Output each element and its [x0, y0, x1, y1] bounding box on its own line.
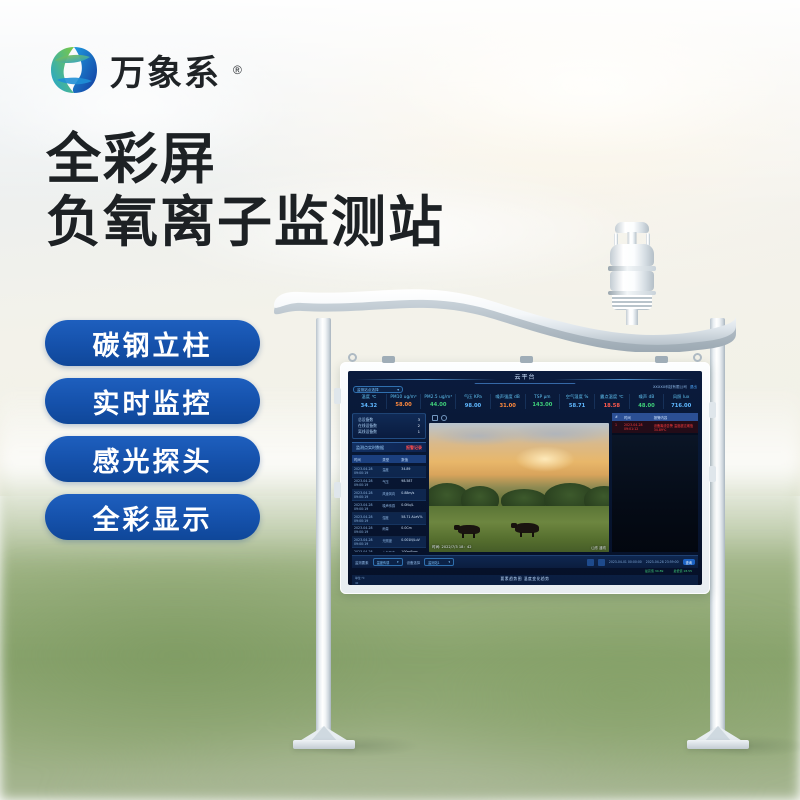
data-table-columns: 时间 类型 数值 [352, 455, 426, 463]
element-select[interactable]: 温度传感 ▾ [373, 558, 403, 566]
trend-toolbar: 监测要素 温度传感 ▾ 设备选择 监测站1 ▾ 2023-04-01 00:00… [352, 555, 698, 568]
query-button[interactable]: 查询 [683, 559, 695, 565]
chart-view-icon[interactable] [598, 559, 605, 566]
element-select-label: 监测要素 [355, 560, 369, 565]
alarm-preview-dark [612, 435, 698, 552]
metric-value: 98.00 [456, 403, 490, 409]
chart-y-axis: 4035302520151050 [355, 583, 358, 585]
metric-card: 空气湿度 % 58.71 [560, 394, 595, 409]
metric-label: 露点温度 ℃ [595, 394, 629, 400]
chevron-down-icon: ▾ [397, 560, 399, 564]
alarm-content: 设备离线告警 温度超过阈值 34.89℃ [654, 423, 695, 432]
sensor-neck [628, 232, 637, 244]
metric-card: 气压 KPa 98.00 [456, 394, 491, 409]
cell-type: 风速风向 [382, 491, 401, 499]
lift-eyelet-right [693, 353, 702, 362]
cell-value: 34.89 [401, 467, 424, 475]
trend-section: 监测要素 温度传感 ▾ 设备选择 监测站1 ▾ 2023-04-01 00:00… [348, 555, 702, 585]
chart-legend: 最高值 34.89 最低值 18.55 [352, 568, 698, 573]
base-flange-left [293, 740, 355, 749]
alarm-col-index: # [615, 415, 620, 420]
legend-max: 最高值 34.89 [645, 569, 664, 573]
metric-card: 温度 ℃ 34.32 [352, 394, 387, 409]
alarm-time: 2023-04-28 09:01:12 [624, 423, 650, 432]
metric-label: 空气湿度 % [560, 394, 594, 400]
camera-feed[interactable]: 时间: 2022/7/3 18：42 山东 潍坊 [429, 423, 609, 552]
user-company-label: XXXXX科技有限公司 [653, 385, 687, 390]
sensor-mount-stem [626, 309, 638, 325]
metric-card: 风照 lux 716.00 [664, 394, 698, 409]
device-select-label: 设备选择 [407, 560, 421, 565]
cell-value: 0.0Nu/L [401, 503, 424, 511]
cell-time: 2023-04-28 09:00:19 [354, 538, 382, 546]
table-row[interactable]: 2023-04-28 09:00:19风速风向0.88m/s [352, 490, 426, 502]
device-select[interactable]: 监测站1 ▾ [424, 558, 454, 566]
metric-label: PM10 ug/m³ [387, 394, 421, 399]
legend-min: 最低值 18.55 [673, 569, 692, 573]
cell-value: 58.71 ALeV% [401, 515, 424, 523]
metric-card: 噪声强度 dB 31.00 [491, 394, 526, 409]
data-table-body[interactable]: 2023-04-28 09:00:19温度34.892023-04-28 09:… [352, 466, 426, 552]
metric-value: 48.00 [630, 403, 664, 409]
cell-time: 2023-04-28 09:00:19 [354, 479, 382, 487]
metric-value: 58.00 [387, 402, 421, 408]
base-flange-right [687, 740, 749, 749]
top-bracket-3 [655, 356, 668, 363]
trend-chart[interactable]: 单位:℃ 要素趋势图 温度变化趋势 4035302520151050 18.62… [352, 575, 698, 585]
wave-canopy [270, 276, 740, 352]
metric-value: 18.58 [595, 403, 629, 409]
metric-value: 31.00 [491, 403, 525, 409]
metric-card: 露点温度 ℃ 18.58 [595, 394, 630, 409]
metric-label: TSP μm [526, 394, 560, 399]
table-view-icon[interactable] [587, 559, 594, 566]
alarm-panel: # 时间 报警内容 1 2023-04-28 09:01:12 设备离线告警 温… [612, 413, 698, 552]
metric-label: 温度 ℃ [352, 394, 386, 400]
base-plate-left [293, 727, 355, 749]
cell-value: 0.88m/s [401, 491, 424, 499]
column-header-time: 时间 [354, 457, 382, 462]
status-label: 离线设备数 [358, 429, 377, 435]
metric-card: PM2.5 ug/m³ 44.00 [421, 394, 456, 409]
chart-plot: 18.620.124.527.419.218.819.419.118.921.2… [368, 583, 702, 585]
date-range-start[interactable]: 2023-04-01 00:00:00 [609, 560, 642, 564]
chevron-down-icon: ▾ [397, 387, 399, 393]
alarm-columns: # 时间 报警内容 [612, 413, 698, 421]
cell-value: 0.001N/LuV [401, 538, 424, 546]
data-table-header: 监测点实时数据 报警记录 [352, 442, 426, 452]
side-bracket-left-2 [334, 482, 341, 498]
metric-label: 风照 lux [664, 394, 698, 400]
feed-sun-glow [515, 446, 575, 472]
cell-type: 噪声传感 [382, 503, 401, 511]
station-select[interactable]: 监测站点选择 ▾ [353, 386, 403, 393]
cow-leg [532, 532, 534, 537]
support-post-left [316, 318, 331, 736]
side-bracket-right-2 [709, 466, 716, 482]
column-header-value: 数值 [401, 457, 424, 462]
cell-time: 2023-04-28 09:00:19 [354, 526, 382, 534]
chart-title: 要素趋势图 温度变化趋势 [501, 576, 550, 582]
cell-type: 大气压力 [382, 550, 401, 552]
monitoring-station: 云平台 监测站点选择 ▾ XXXXX科技有限公司 退出 温度 ℃ 34.32 P… [0, 0, 800, 800]
alarm-row[interactable]: 1 2023-04-28 09:01:12 设备离线告警 温度超过阈值 34.8… [612, 421, 698, 433]
snapshot-icon[interactable] [441, 415, 447, 421]
table-row[interactable]: 2023-04-28 09:00:19光照度0.001N/LuV [352, 537, 426, 549]
metric-card: TSP μm 143.00 [526, 394, 561, 409]
feed-cloud-2 [501, 423, 609, 445]
table-row[interactable]: 2023-04-28 09:00:19气压98.587 [352, 478, 426, 490]
cell-type: 光照度 [382, 538, 401, 546]
top-bracket-1 [382, 356, 395, 363]
side-bracket-left-1 [334, 388, 341, 404]
metric-value: 716.00 [664, 403, 698, 409]
table-row[interactable]: 2023-04-28 09:00:19大气压力100mEnm [352, 548, 426, 552]
dashboard-header: 云平台 [348, 371, 702, 386]
station-select-value: 监测站点选择 [357, 387, 379, 393]
metric-value: 58.71 [560, 403, 594, 409]
cell-time: 2023-04-28 09:00:19 [354, 491, 382, 499]
device-select-value: 监测站1 [428, 560, 440, 565]
side-bracket-right-1 [709, 402, 716, 418]
column-header-type: 类型 [382, 457, 401, 462]
cell-time: 2023-04-28 09:00:19 [354, 515, 382, 523]
chevron-down-icon: ▾ [449, 560, 451, 564]
cell-time: 2023-04-28 09:00:19 [354, 467, 382, 475]
support-post-right [710, 318, 725, 736]
cell-type: 湿度 [382, 515, 401, 523]
metric-card: PM10 ug/m³ 58.00 [387, 394, 422, 409]
cell-type: 温度 [382, 467, 401, 475]
cell-value: 0.0Cm [401, 526, 424, 534]
cell-type: 雨量 [382, 526, 401, 534]
table-row[interactable]: 2023-04-28 09:00:19雨量0.0Cm [352, 525, 426, 537]
camera-panel: 时间: 2022/7/3 18：42 山东 潍坊 [429, 413, 609, 552]
metric-value: 44.00 [421, 402, 455, 408]
feed-cow-1 [458, 525, 480, 534]
feed-cow-2 [515, 523, 539, 533]
sensor-radiation-shield [612, 295, 652, 310]
alarm-col-content: 报警内容 [654, 415, 695, 420]
cell-value: 98.587 [401, 479, 424, 487]
base-plate-right [687, 727, 749, 749]
logout-button[interactable]: 退出 [690, 385, 697, 390]
fullscreen-icon[interactable] [432, 415, 438, 421]
lift-eyelet-left [348, 353, 357, 362]
metric-card: 噪声 dB 48.00 [630, 394, 665, 409]
date-range-end[interactable]: 2023-04-28 23:59:00 [646, 560, 679, 564]
status-row: 离线设备数 1 [358, 429, 420, 435]
top-bracket-2 [520, 356, 533, 363]
sensor-mid-body [610, 271, 654, 291]
ultrasonic-weather-sensor [600, 222, 664, 318]
camera-location: 山东 潍坊 [591, 545, 606, 550]
dashboard-body: 总设备数 3 在线设备数 2 离线设备数 1 监测点实时数据 [348, 409, 702, 552]
display-housing: 云平台 监测站点选择 ▾ XXXXX科技有限公司 退出 温度 ℃ 34.32 P… [340, 362, 710, 594]
data-table-title: 监测点实时数据 [356, 445, 384, 451]
camera-timestamp: 时间: 2022/7/3 18：42 [432, 545, 472, 550]
cell-time: 2023-04-28 09:00:19 [354, 550, 382, 552]
sensor-upper-body [610, 244, 654, 266]
cow-head [454, 525, 460, 530]
metric-label: PM2.5 ug/m³ [421, 394, 455, 399]
table-row[interactable]: 2023-04-28 09:00:19湿度58.71 ALeV% [352, 513, 426, 525]
cell-type: 气压 [382, 479, 401, 487]
camera-toolbar [429, 413, 609, 423]
metric-label: 气压 KPa [456, 394, 490, 400]
dashboard-title: 云平台 [514, 372, 535, 381]
cow-leg [462, 533, 464, 538]
alarm-list[interactable]: 1 2023-04-28 09:01:12 设备离线告警 温度超过阈值 34.8… [612, 421, 698, 552]
chart-unit-label: 单位:℃ [355, 576, 365, 580]
metric-strip: 温度 ℃ 34.32 PM10 ug/m³ 58.00 PM2.5 ug/m³ … [348, 394, 702, 409]
cow-leg [473, 533, 475, 538]
alarm-index: 1 [615, 423, 620, 432]
metric-label: 噪声 dB [630, 394, 664, 400]
cow-head [511, 523, 517, 528]
user-area: XXXXX科技有限公司 退出 [653, 385, 697, 390]
cow-leg [520, 532, 522, 537]
table-row[interactable]: 2023-04-28 09:00:19温度34.89 [352, 466, 426, 478]
status-value: 1 [418, 429, 420, 435]
left-panel: 总设备数 3 在线设备数 2 离线设备数 1 监测点实时数据 [352, 413, 426, 552]
alarm-col-time: 时间 [624, 415, 650, 420]
element-select-value: 温度传感 [377, 560, 390, 565]
y-tick-label: 40 [355, 583, 358, 585]
device-status-card: 总设备数 3 在线设备数 2 离线设备数 1 [352, 413, 426, 439]
alarm-records-link[interactable]: 报警记录 [406, 445, 422, 451]
metric-label: 噪声强度 dB [491, 394, 525, 400]
dashboard-screen[interactable]: 云平台 监测站点选择 ▾ XXXXX科技有限公司 退出 温度 ℃ 34.32 P… [348, 371, 702, 585]
metric-value: 34.32 [352, 403, 386, 409]
table-row[interactable]: 2023-04-28 09:00:19噪声传感0.0Nu/L [352, 501, 426, 513]
cell-value: 100mEnm [401, 550, 424, 552]
metric-value: 143.00 [526, 402, 560, 408]
cell-time: 2023-04-28 09:00:19 [354, 503, 382, 511]
